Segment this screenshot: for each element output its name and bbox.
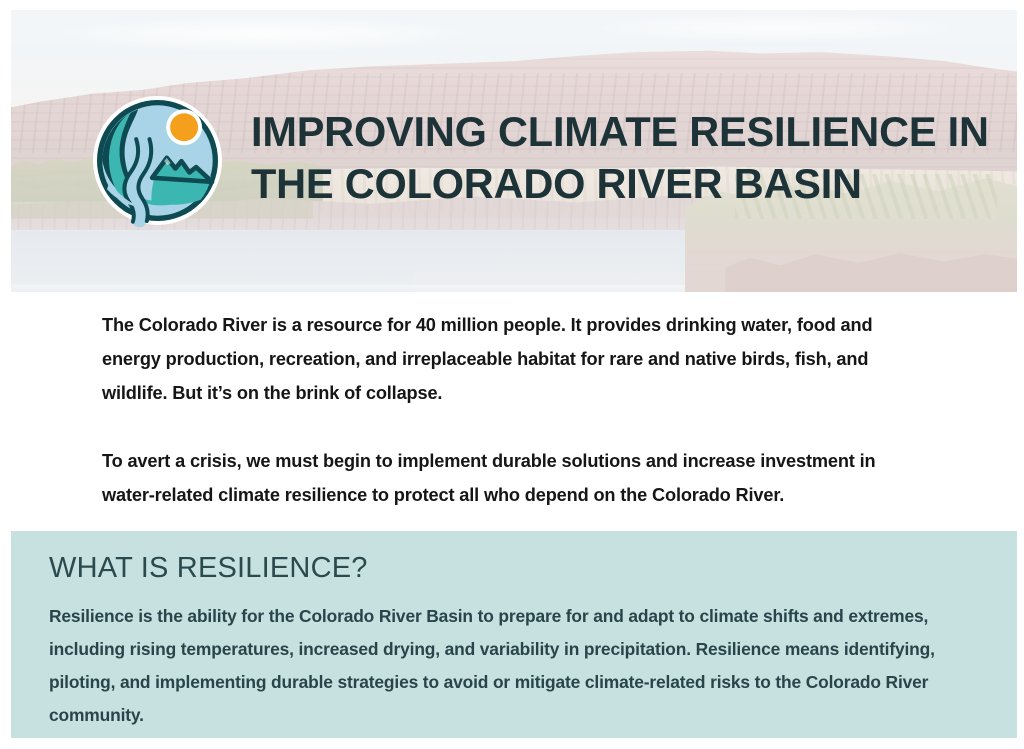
what-is-resilience-panel: WHAT IS RESILIENCE? Resilience is the ab…	[11, 531, 1017, 738]
page-title: IMPROVING CLIMATE RESILIENCE IN THE COLO…	[251, 106, 1011, 210]
intro-paragraph-2: To avert a crisis, we must begin to impl…	[102, 444, 932, 512]
hero-banner: IMPROVING CLIMATE RESILIENCE IN THE COLO…	[11, 10, 1017, 292]
hero-content: IMPROVING CLIMATE RESILIENCE IN THE COLO…	[11, 10, 1017, 292]
intro-paragraph-1: The Colorado River is a resource for 40 …	[102, 308, 932, 410]
infographic-page: IMPROVING CLIMATE RESILIENCE IN THE COLO…	[0, 0, 1024, 749]
resilience-body-text: Resilience is the ability for the Colora…	[49, 600, 981, 732]
colorado-river-basin-logo	[91, 94, 224, 227]
resilience-heading: WHAT IS RESILIENCE?	[49, 550, 981, 586]
intro-section: The Colorado River is a resource for 40 …	[102, 308, 932, 512]
